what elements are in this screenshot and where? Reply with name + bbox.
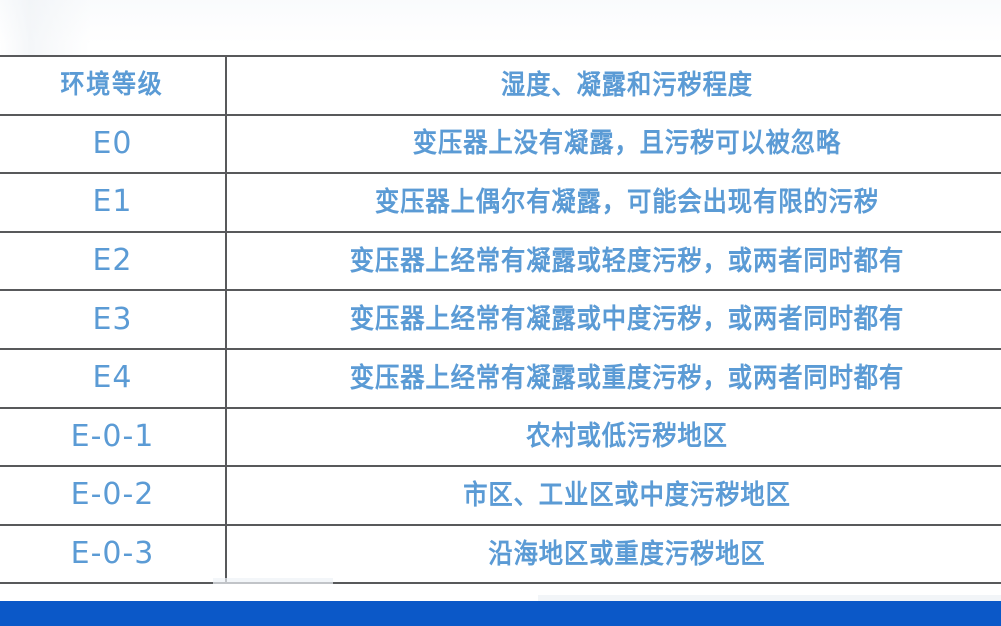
description-text: 沿海地区或重度污秽地区 bbox=[488, 541, 765, 568]
grade-code: E2 bbox=[92, 243, 132, 278]
description-text: 变压器上经常有凝露或中度污秽，或两者同时都有 bbox=[350, 306, 904, 333]
bottom-brand-bar bbox=[0, 601, 1001, 626]
cell-description: 农村或低污秽地区 bbox=[226, 408, 1001, 467]
table-row: E4 变压器上经常有凝露或重度污秽，或两者同时都有 bbox=[0, 349, 1001, 408]
table-header: 环境等级 湿度、凝露和污秽程度 bbox=[0, 56, 1001, 115]
header-cell-description: 湿度、凝露和污秽程度 bbox=[226, 56, 1001, 115]
table-row: E1 变压器上偶尔有凝露，可能会出现有限的污秽 bbox=[0, 173, 1001, 232]
header-cell-grade: 环境等级 bbox=[0, 56, 226, 115]
cell-description: 市区、工业区或中度污秽地区 bbox=[226, 466, 1001, 525]
table-row: E2 变压器上经常有凝露或轻度污秽，或两者同时都有 bbox=[0, 232, 1001, 291]
cell-description: 变压器上没有凝露，且污秽可以被忽略 bbox=[226, 115, 1001, 174]
cell-grade: E2 bbox=[0, 232, 226, 291]
table-row: E0 变压器上没有凝露，且污秽可以被忽略 bbox=[0, 115, 1001, 174]
cell-grade: E1 bbox=[0, 173, 226, 232]
table-body: E0 变压器上没有凝露，且污秽可以被忽略 E1 变压器上偶尔有凝露，可能会出现有… bbox=[0, 115, 1001, 584]
description-text: 变压器上经常有凝露或轻度污秽，或两者同时都有 bbox=[350, 248, 904, 275]
cell-description: 变压器上偶尔有凝露，可能会出现有限的污秽 bbox=[226, 173, 1001, 232]
description-text: 市区、工业区或中度污秽地区 bbox=[463, 482, 791, 509]
grade-code: E-0-2 bbox=[71, 477, 155, 512]
scan-artifact-overlay bbox=[0, 0, 1001, 55]
description-text: 变压器上没有凝露，且污秽可以被忽略 bbox=[413, 130, 841, 157]
cell-grade: E4 bbox=[0, 349, 226, 408]
document-page: 环境等级 湿度、凝露和污秽程度 E0 变压器上没有凝露，且污秽可以被忽略 E1 bbox=[0, 0, 1001, 626]
header-label-description: 湿度、凝露和污秽程度 bbox=[501, 72, 753, 99]
description-text: 农村或低污秽地区 bbox=[526, 423, 728, 450]
table-row: E3 变压器上经常有凝露或中度污秽，或两者同时都有 bbox=[0, 290, 1001, 349]
header-label-grade: 环境等级 bbox=[61, 72, 164, 98]
cell-description: 变压器上经常有凝露或重度污秽，或两者同时都有 bbox=[226, 349, 1001, 408]
grade-code: E3 bbox=[92, 302, 132, 337]
cell-grade: E0 bbox=[0, 115, 226, 174]
table-row: E-0-3 沿海地区或重度污秽地区 bbox=[0, 525, 1001, 584]
cell-description: 沿海地区或重度污秽地区 bbox=[226, 525, 1001, 584]
grade-code: E-0-1 bbox=[71, 419, 155, 454]
grade-code: E0 bbox=[92, 126, 132, 161]
table-header-row: 环境等级 湿度、凝露和污秽程度 bbox=[0, 56, 1001, 115]
description-text: 变压器上经常有凝露或重度污秽，或两者同时都有 bbox=[350, 365, 904, 392]
cell-grade: E-0-1 bbox=[0, 408, 226, 467]
grade-code: E-0-3 bbox=[71, 536, 155, 571]
table-row: E-0-1 农村或低污秽地区 bbox=[0, 408, 1001, 467]
cell-description: 变压器上经常有凝露或中度污秽，或两者同时都有 bbox=[226, 290, 1001, 349]
cell-grade: E-0-2 bbox=[0, 466, 226, 525]
environment-class-table: 环境等级 湿度、凝露和污秽程度 E0 变压器上没有凝露，且污秽可以被忽略 E1 bbox=[0, 55, 1001, 584]
grade-code: E1 bbox=[92, 184, 132, 219]
cell-grade: E3 bbox=[0, 290, 226, 349]
table-row: E-0-2 市区、工业区或中度污秽地区 bbox=[0, 466, 1001, 525]
cell-grade: E-0-3 bbox=[0, 525, 226, 584]
grade-code: E4 bbox=[92, 360, 132, 395]
description-text: 变压器上偶尔有凝露，可能会出现有限的污秽 bbox=[375, 189, 879, 216]
cell-description: 变压器上经常有凝露或轻度污秽，或两者同时都有 bbox=[226, 232, 1001, 291]
